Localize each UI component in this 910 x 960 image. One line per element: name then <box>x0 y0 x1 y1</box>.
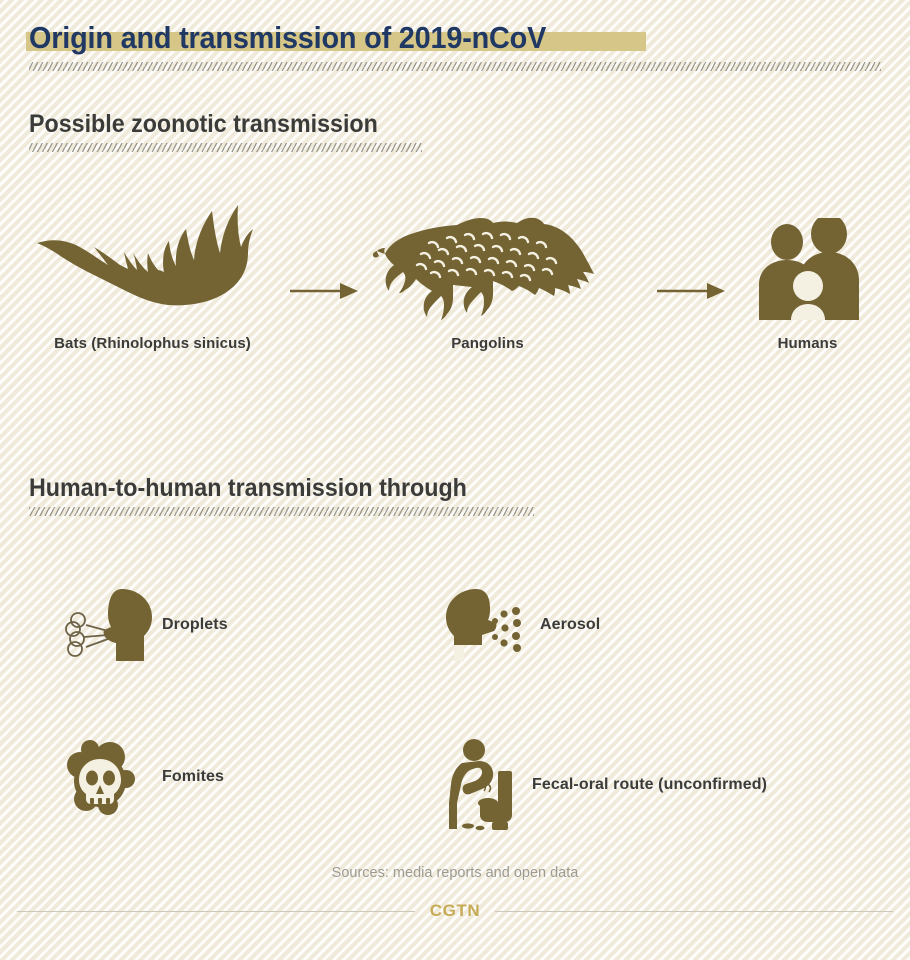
footer: Sources: media reports and open data CGT… <box>0 865 910 960</box>
chain-label-pangolins: Pangolins <box>355 335 620 352</box>
section-divider-human-to-human <box>29 507 534 516</box>
section-divider-zoonotic <box>29 143 422 152</box>
humans-family-icon <box>743 218 873 328</box>
droplets-icon-wrap <box>62 587 162 663</box>
sources-text: Sources: media reports and open data <box>0 865 910 881</box>
route-item-droplets: Droplets <box>62 587 228 663</box>
aerosol-icon-wrap <box>440 587 540 663</box>
page-title: Origin and transmission of 2019-nCoV <box>29 22 546 53</box>
head-aerosol-particles-icon <box>442 587 538 663</box>
pangolin-icon <box>373 212 603 332</box>
route-label-droplets: Droplets <box>162 616 228 634</box>
zoonotic-chain: Bats (Rhinolophus sinicus) <box>0 190 910 385</box>
brand-logo: CGTN <box>415 901 496 921</box>
page-title-block: Origin and transmission of 2019-nCoV <box>29 22 585 53</box>
pangolin-art-area <box>355 190 620 335</box>
person-toilet-icon <box>432 737 532 833</box>
bat-art-area <box>10 190 295 335</box>
humans-art-area <box>715 190 900 335</box>
fomites-icon-wrap <box>62 737 162 817</box>
transmission-routes-grid: Droplets <box>0 565 910 855</box>
arrow-right-icon-1 <box>288 280 360 307</box>
section-heading-human-to-human: Human-to-human transmission through <box>29 476 467 501</box>
route-label-fecal-oral: Fecal-oral route (unconfirmed) <box>532 776 767 794</box>
route-label-fomites: Fomites <box>162 768 224 786</box>
route-label-aerosol: Aerosol <box>540 616 600 634</box>
route-item-fecal-oral: Fecal-oral route (unconfirmed) <box>432 737 767 833</box>
brand-rule-right <box>495 911 893 912</box>
section-heading-zoonotic: Possible zoonotic transmission <box>29 112 378 137</box>
brand-row: CGTN <box>0 901 910 921</box>
chain-label-bats: Bats (Rhinolophus sinicus) <box>10 335 295 352</box>
chain-step-bats: Bats (Rhinolophus sinicus) <box>10 190 295 352</box>
bat-icon <box>32 195 272 335</box>
infographic-page: Origin and transmission of 2019-nCoV Pos… <box>0 0 910 960</box>
fecal-oral-icon-wrap <box>432 737 532 833</box>
head-coughing-icon <box>64 587 160 663</box>
germ-skull-icon <box>64 737 160 817</box>
brand-rule-left <box>17 911 415 912</box>
route-item-aerosol: Aerosol <box>440 587 600 663</box>
chain-step-pangolins: Pangolins <box>355 190 620 352</box>
title-divider <box>29 62 881 71</box>
chain-label-humans: Humans <box>715 335 900 352</box>
route-item-fomites: Fomites <box>62 737 224 817</box>
chain-step-humans: Humans <box>715 190 900 352</box>
